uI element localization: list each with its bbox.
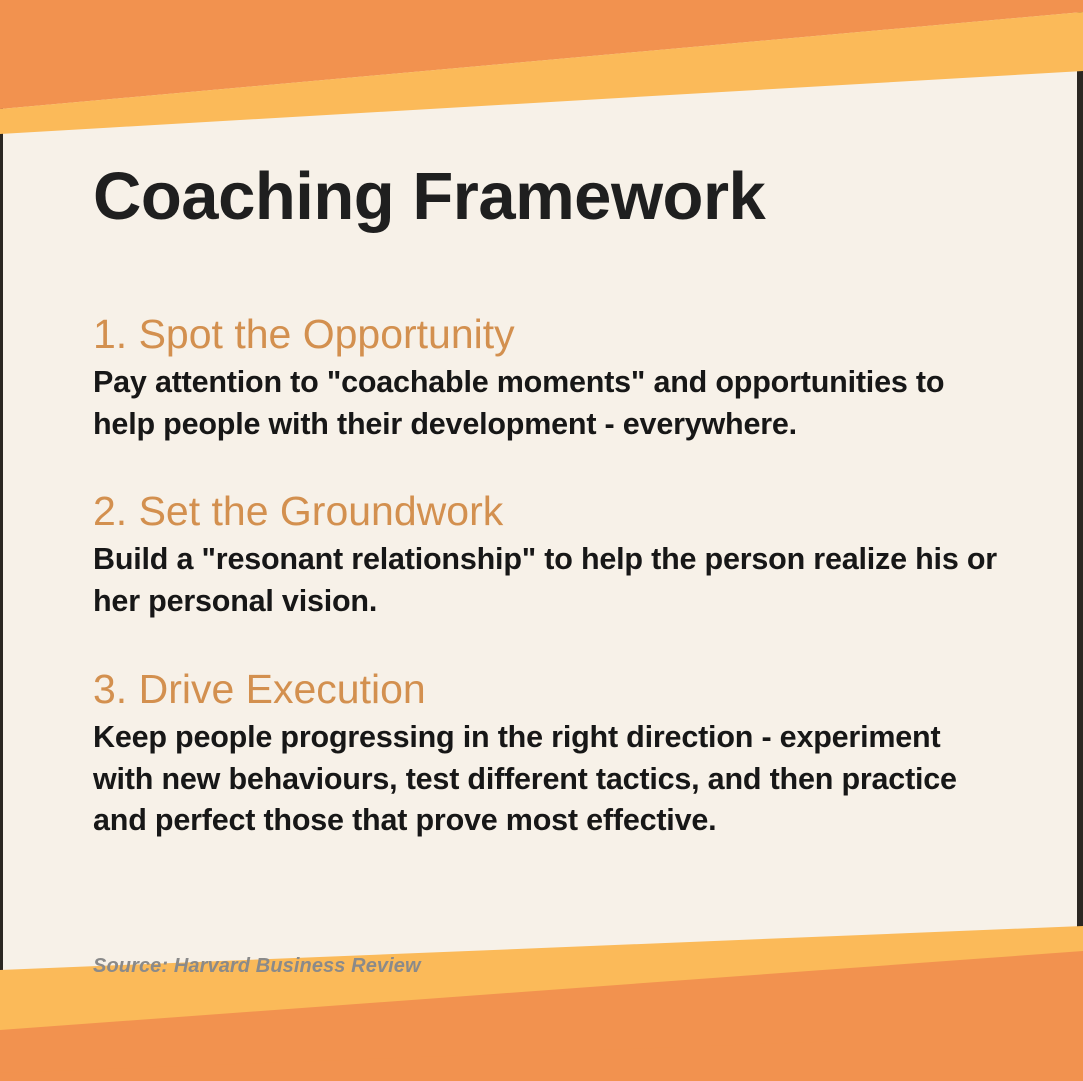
- framework-step-body: Keep people progressing in the right dir…: [93, 717, 998, 842]
- framework-step-body: Pay attention to "coachable moments" and…: [93, 362, 998, 446]
- poster-content: Coaching Framework 1. Spot the Opportuni…: [93, 0, 1013, 1081]
- framework-step-body: Build a "resonant relationship" to help …: [93, 539, 998, 623]
- framework-step: 1. Spot the Opportunity Pay attention to…: [93, 312, 1013, 445]
- framework-step-heading: 3. Drive Execution: [93, 667, 1013, 713]
- page-title: Coaching Framework: [93, 163, 765, 230]
- infographic-poster: Coaching Framework 1. Spot the Opportuni…: [0, 0, 1083, 1081]
- framework-step-heading: 2. Set the Groundwork: [93, 489, 1013, 535]
- framework-step: 3. Drive Execution Keep people progressi…: [93, 667, 1013, 842]
- framework-step: 2. Set the Groundwork Build a "resonant …: [93, 489, 1013, 622]
- source-attribution: Source: Harvard Business Review: [93, 955, 421, 978]
- framework-step-heading: 1. Spot the Opportunity: [93, 312, 1013, 358]
- framework-step-list: 1. Spot the Opportunity Pay attention to…: [93, 312, 1013, 886]
